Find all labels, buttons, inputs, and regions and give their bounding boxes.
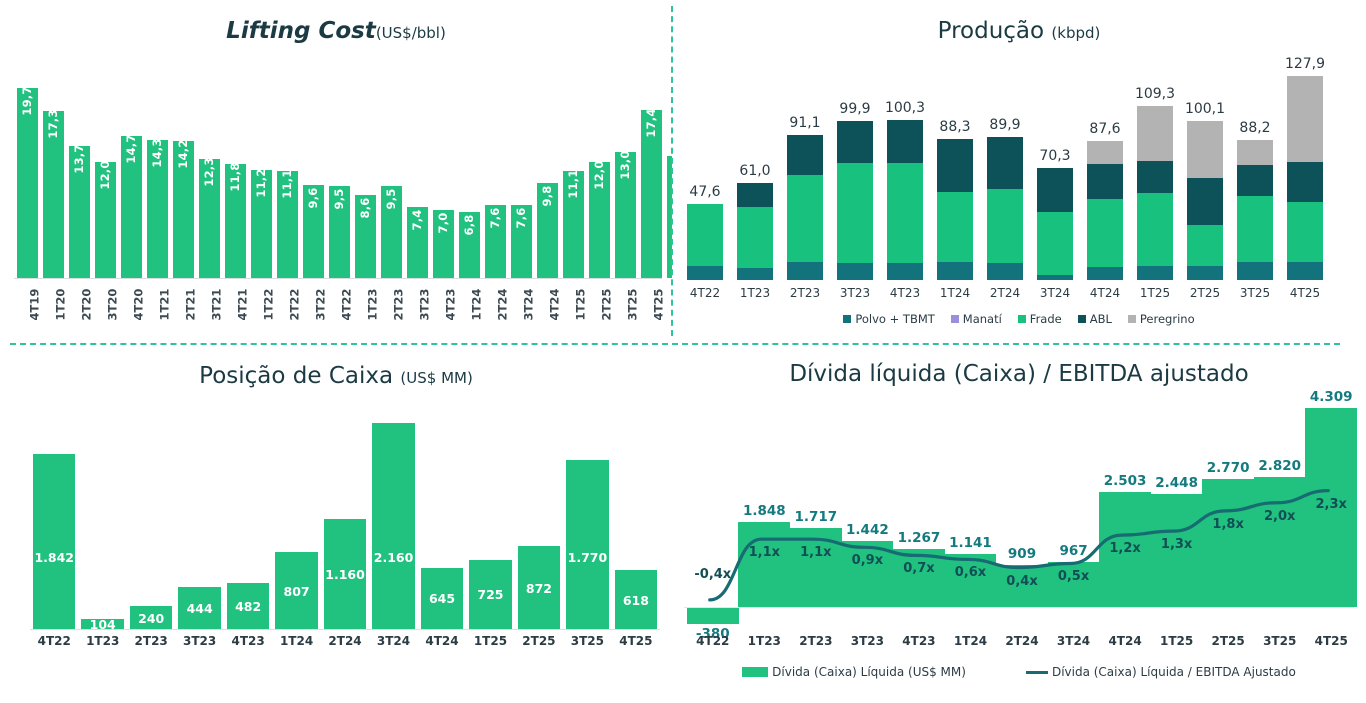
divida-x-label: 1T24: [944, 634, 996, 648]
divida-x-label: 4T23: [893, 634, 945, 648]
lifting-cost-bar: 13,7: [69, 146, 90, 278]
caixa-axis: [30, 629, 660, 630]
caixa-x-label: 3T24: [372, 634, 414, 648]
lifting-cost-bar-value: 12,3: [202, 158, 216, 187]
lifting-cost-bar-column: 7,62T24: [485, 80, 506, 278]
divida-legend: Dívida (Caixa) Líquida (US$ MM)Dívida (C…: [672, 665, 1366, 679]
caixa-bar-value: 645: [429, 591, 455, 606]
lifting-cost-bar-value: 9,5: [384, 189, 398, 210]
divida-x-label: 4T22: [687, 634, 739, 648]
divida-bar-column: 1.1410,6x1T24: [944, 395, 996, 630]
lifting-cost-bar: 9,5: [381, 186, 402, 278]
producao-segment-abl: [987, 137, 1023, 189]
lifting-cost-bar: 8,6: [355, 195, 376, 278]
producao-stacked-bar: [887, 120, 923, 280]
producao-x-label: 2T25: [1187, 286, 1223, 300]
divida-bar: [841, 541, 893, 607]
producao-total-label: 87,6: [1089, 121, 1120, 137]
divida-x-label: 2T25: [1202, 634, 1254, 648]
divida-ratio-value: 1,2x: [1109, 541, 1140, 556]
caixa-bar: 1.842: [33, 454, 75, 629]
caixa-bar-value: 240: [138, 611, 164, 626]
lifting-cost-x-label: 3T21: [209, 300, 223, 321]
caixa-bar-value: 444: [187, 601, 213, 616]
producao-segment-polvo-tbmt: [1137, 266, 1173, 280]
legend-line-icon: [1026, 671, 1048, 674]
lifting-cost-bar-column: 7,63T24: [511, 80, 532, 278]
divida-ratio-value: 1,1x: [800, 545, 831, 560]
caixa-bar: 444: [178, 587, 220, 629]
legend-item[interactable]: Polvo + TBMT: [843, 312, 934, 326]
divida-x-label: 3T25: [1254, 634, 1306, 648]
caixa-bar-column: 4443T23: [178, 410, 220, 629]
producao-x-label: 3T25: [1237, 286, 1273, 300]
producao-segment-peregrino: [1187, 121, 1223, 178]
caixa-bar-value: 1.160: [325, 567, 365, 582]
producao-segment-frade: [837, 163, 873, 263]
producao-segment-frade: [887, 163, 923, 263]
divida-bar-value: 4.309: [1310, 389, 1353, 405]
lifting-cost-bar: 11,2: [251, 170, 272, 278]
caixa-bar-column: 1.7703T25: [566, 410, 608, 629]
lifting-cost-x-label: 4T21: [235, 300, 249, 321]
lifting-cost-bar-column: 9,52T23: [381, 80, 402, 278]
producao-bar-column: 87,64T24: [1087, 65, 1123, 280]
lifting-cost-bar: 11,1: [563, 171, 584, 278]
divida-ratio-value: 1,1x: [749, 545, 780, 560]
lifting-cost-bar-column: 12,03T20: [95, 80, 116, 278]
producao-segment-abl: [737, 183, 773, 207]
lifting-cost-bar-column: 13,03T25: [615, 80, 636, 278]
divida-ratio-value: 0,5x: [1058, 569, 1089, 584]
divida-ratio-value: 0,4x: [1006, 574, 1037, 589]
divida-ratio-value: 0,7x: [903, 561, 934, 576]
lifting-cost-bar: 12,0: [95, 162, 116, 278]
caixa-bar: 807: [275, 552, 317, 629]
producao-segment-abl: [1137, 161, 1173, 193]
lifting-cost-bar-column: 11,12T22: [277, 80, 298, 278]
caixa-bar-column: 1.1602T24: [324, 410, 366, 629]
producao-segment-polvo-tbmt: [987, 263, 1023, 280]
producao-segment-frade: [937, 192, 973, 262]
divida-bar-value: 2.503: [1104, 473, 1147, 489]
divida-bar-column: 1.8481,1x1T23: [738, 395, 790, 630]
lifting-cost-bar-column: 17,44T25: [641, 80, 662, 278]
producao-segment-polvo-tbmt: [887, 263, 923, 280]
producao-bar-column: 47,64T22: [687, 65, 723, 280]
lifting-cost-bar-value: 9,8: [540, 186, 554, 207]
divida-x-label: 4T25: [1305, 634, 1357, 648]
caixa-bar-value: 1.842: [34, 550, 74, 565]
producao-segment-frade: [987, 189, 1023, 263]
lifting-cost-x-label: 3T25: [625, 300, 639, 321]
caixa-bar: 104: [81, 619, 123, 629]
lifting-cost-x-label: 3T22: [313, 300, 327, 321]
divida-bar-column: 1.4420,9x3T23: [841, 395, 893, 630]
producao-x-label: 3T24: [1037, 286, 1073, 300]
divida-ratio-value: 1,3x: [1161, 537, 1192, 552]
divida-bar: [944, 554, 996, 607]
producao-x-label: 4T24: [1087, 286, 1123, 300]
divida-ratio-value: -0,4x: [694, 567, 731, 582]
caixa-bar-value: 1.770: [568, 550, 608, 565]
producao-title-sub: (kbpd): [1051, 24, 1100, 42]
lifting-cost-x-label: 3T20: [105, 300, 119, 321]
lifting-cost-bar-column: 12,02T25: [589, 80, 610, 278]
caixa-bar-value: 482: [235, 599, 261, 614]
divida-bar-column: 2.7701,8x2T25: [1202, 395, 1254, 630]
producao-stacked-bar: [687, 204, 723, 280]
lifting-cost-bar-column: 17,31T20: [43, 80, 64, 278]
lifting-cost-bar-value: 17,3: [46, 109, 60, 138]
lifting-cost-bar-column: 14,74T20: [121, 80, 142, 278]
producao-stacked-bar: [1237, 140, 1273, 280]
producao-segment-polvo-tbmt: [1237, 262, 1273, 280]
producao-segment-frade: [1187, 225, 1223, 266]
divida-bar-column: 9670,5x3T24: [1048, 395, 1100, 630]
divida-bar-value: 1.848: [743, 503, 786, 519]
producao-stacked-bar: [1137, 106, 1173, 280]
lifting-cost-x-label: 1T22: [261, 300, 275, 321]
lifting-cost-bar-column: 11,84T21: [225, 80, 246, 278]
producao-bar-column: 109,31T25: [1137, 65, 1173, 280]
lifting-cost-bar-column: 8,61T23: [355, 80, 376, 278]
producao-segment-frade: [1087, 199, 1123, 267]
producao-segment-polvo-tbmt: [787, 262, 823, 280]
lifting-cost-bar-value: 13,0: [618, 151, 632, 180]
producao-segment-frade: [687, 204, 723, 266]
producao-total-label: 109,3: [1135, 86, 1175, 102]
legend-item[interactable]: Peregrino: [1128, 312, 1195, 326]
divida-bar-column: 1.2670,7x4T23: [893, 395, 945, 630]
lifting-cost-bar-column: 9,54T22: [329, 80, 350, 278]
divider-vertical: [671, 6, 673, 336]
producao-segment-polvo-tbmt: [687, 266, 723, 280]
caixa-bar-value: 725: [477, 587, 503, 602]
caixa-x-label: 4T25: [615, 634, 657, 648]
legend-swatch-icon: [951, 315, 959, 323]
caixa-x-label: 1T24: [275, 634, 317, 648]
lifting-cost-title-sub: (US$/bbl): [376, 24, 446, 42]
caixa-bar-column: 8071T24: [275, 410, 317, 629]
lifting-cost-bar-value: 9,6: [306, 188, 320, 209]
divida-x-label: 3T24: [1048, 634, 1100, 648]
producao-total-label: 91,1: [789, 115, 820, 131]
divida-x-label: 4T24: [1099, 634, 1151, 648]
producao-plot: 47,64T2261,01T2391,12T2399,93T23100,34T2…: [680, 65, 1330, 280]
caixa-title-sub: (US$ MM): [400, 369, 472, 387]
lifting-cost-bar-column: 9,63T22: [303, 80, 324, 278]
lifting-cost-x-label: 1T23: [365, 300, 379, 321]
lifting-cost-x-label: 2T21: [183, 300, 197, 321]
lifting-cost-x-label: 4T19: [27, 300, 41, 321]
producao-segment-frade: [737, 207, 773, 268]
lifting-cost-bar-value: 12,0: [592, 161, 606, 190]
lifting-cost-bar-value: 17,4: [644, 108, 658, 137]
divida-x-label: 3T23: [841, 634, 893, 648]
caixa-x-label: 4T24: [421, 634, 463, 648]
producao-segment-abl: [937, 139, 973, 191]
producao-bar-column: 100,34T23: [887, 65, 923, 280]
lifting-cost-x-label: 3T23: [417, 300, 431, 321]
lifting-cost-bar-column: 14,31T21: [147, 80, 168, 278]
producao-segment-peregrino: [1137, 106, 1173, 161]
caixa-x-label: 2T25: [518, 634, 560, 648]
producao-stacked-bar: [937, 139, 973, 280]
lifting-cost-bar-value: 11,1: [566, 169, 580, 198]
legend-item[interactable]: ABL: [1078, 312, 1112, 326]
caixa-x-label: 4T23: [227, 634, 269, 648]
lifting-cost-bar-column: 9,84T24: [537, 80, 558, 278]
producao-total-label: 88,2: [1239, 120, 1270, 136]
producao-bar-column: 89,92T24: [987, 65, 1023, 280]
divida-bar-column: 2.4481,3x1T25: [1151, 395, 1203, 630]
lifting-cost-x-label: 4T23: [443, 300, 457, 321]
caixa-bar-value: 807: [284, 584, 310, 599]
producao-bar-column: 88,31T24: [937, 65, 973, 280]
producao-x-label: 4T23: [887, 286, 923, 300]
lifting-cost-bar: 17,3: [43, 111, 64, 278]
divida-bar-column: 2.8202,0x3T25: [1254, 395, 1306, 630]
caixa-bar-column: 6454T24: [421, 410, 463, 629]
lifting-cost-x-label: 2T22: [287, 300, 301, 321]
lifting-cost-bar-value: 11,8: [228, 162, 242, 191]
lifting-cost-x-label: 4T25: [651, 300, 665, 321]
producao-segment-polvo-tbmt: [1287, 262, 1323, 280]
producao-stacked-bar: [1287, 76, 1323, 280]
caixa-bar-value: 872: [526, 581, 552, 596]
divida-title-main: Dívida líquida (Caixa) / EBITDA ajustado: [789, 361, 1248, 387]
producao-segment-frade: [1287, 202, 1323, 263]
lifting-cost-bar-column: 12,33T21: [199, 80, 220, 278]
producao-stacked-bar: [1087, 141, 1123, 280]
lifting-cost-bar-value: 7,4: [410, 209, 424, 230]
legend-label: ABL: [1090, 312, 1112, 326]
legend-swatch-icon: [742, 667, 768, 677]
producao-total-label: 89,9: [989, 117, 1020, 133]
producao-bar-column: 91,12T23: [787, 65, 823, 280]
divida-ratio-value: 0,6x: [955, 565, 986, 580]
lifting-cost-x-label: 2T20: [79, 300, 93, 321]
producao-segment-abl: [887, 120, 923, 163]
lifting-cost-x-label: 1T24: [469, 300, 483, 321]
caixa-bar: 1.770: [566, 460, 608, 629]
divida-bar: [893, 549, 945, 607]
lifting-cost-bar: 9,8: [537, 183, 558, 278]
divida-bar: [1254, 477, 1306, 607]
lifting-cost-bar-column: 19,74T19: [17, 80, 38, 278]
lifting-cost-bar: 7,0: [433, 210, 454, 278]
lifting-cost-bar: 14,2: [173, 141, 194, 278]
producao-segment-abl: [837, 121, 873, 163]
caixa-x-label: 4T22: [33, 634, 75, 648]
producao-segment-frade: [1037, 212, 1073, 276]
divida-bar-column: 1.7171,1x2T23: [790, 395, 842, 630]
producao-bar-column: 70,33T24: [1037, 65, 1073, 280]
lifting-cost-bar-column: 7,43T23: [407, 80, 428, 278]
caixa-bar: 725: [469, 560, 511, 629]
producao-segment-polvo-tbmt: [837, 263, 873, 280]
panel-lifting-cost: Lifting Cost(US$/bbl) 19,74T1917,31T2013…: [0, 0, 672, 345]
producao-total-label: 100,1: [1185, 101, 1225, 117]
lifting-cost-x-label: 4T24: [547, 300, 561, 321]
producao-segment-frade: [1137, 193, 1173, 265]
divida-bar: [738, 522, 790, 607]
producao-bar-column: 127,94T25: [1287, 65, 1323, 280]
lifting-cost-bar-value: 19,7: [20, 86, 34, 115]
producao-segment-polvo-tbmt: [937, 262, 973, 280]
divida-x-label: 1T23: [738, 634, 790, 648]
panel-producao: Produção (kbpd) 47,64T2261,01T2391,12T23…: [672, 0, 1366, 345]
legend-label: Manatí: [963, 312, 1002, 326]
lifting-cost-bar-value: 7,6: [514, 207, 528, 228]
divida-ratio-value: 1,8x: [1212, 517, 1243, 532]
lifting-cost-bar-value: 9,5: [332, 189, 346, 210]
caixa-plot: 1.8424T221041T232402T234443T234824T23807…: [30, 410, 660, 629]
lifting-cost-bar-value: 12,0: [98, 161, 112, 190]
producao-segment-abl: [1187, 178, 1223, 225]
producao-segment-abl: [787, 135, 823, 175]
caixa-bar: 240: [130, 606, 172, 629]
producao-bar-column: 99,93T23: [837, 65, 873, 280]
lifting-cost-bar: 13,0: [615, 152, 636, 278]
lifting-cost-bar-value: 6,8: [462, 215, 476, 236]
legend-label: Dívida (Caixa) Líquida / EBITDA Ajustado: [1052, 665, 1296, 679]
lifting-cost-bar-column: 13,72T20: [69, 80, 90, 278]
lifting-cost-bar-value: 7,6: [488, 207, 502, 228]
producao-legend: Polvo + TBMTManatíFradeABLPeregrino: [672, 312, 1366, 326]
divida-ratio-value: 0,9x: [852, 553, 883, 568]
legend-item[interactable]: Dívida (Caixa) Líquida (US$ MM): [742, 665, 966, 679]
panel-posicao-caixa: Posição de Caixa (US$ MM) 1.8424T221041T…: [0, 345, 672, 703]
lifting-cost-bar: 6,8: [459, 212, 480, 278]
producao-segment-polvo-tbmt: [1087, 267, 1123, 280]
lifting-cost-bar-value: 8,6: [358, 197, 372, 218]
lifting-cost-bar-value: 11,2: [254, 168, 268, 197]
legend-swatch-icon: [843, 315, 851, 323]
producao-stacked-bar: [837, 121, 873, 280]
legend-swatch-icon: [1128, 315, 1136, 323]
caixa-title-main: Posição de Caixa: [199, 363, 393, 389]
caixa-bar: 645: [421, 568, 463, 629]
legend-label: Frade: [1030, 312, 1062, 326]
lifting-cost-plot: 19,74T1917,31T2013,72T2012,03T2014,74T20…: [14, 80, 662, 278]
lifting-cost-bar: 19,7: [17, 88, 38, 278]
producao-total-label: 61,0: [739, 163, 770, 179]
caixa-bar: 2.160: [372, 423, 414, 629]
producao-segment-abl: [1237, 165, 1273, 195]
producao-segment-abl: [1087, 164, 1123, 198]
producao-segment-peregrino: [1087, 141, 1123, 165]
producao-stacked-bar: [987, 137, 1023, 280]
lifting-cost-bar-value: 11,1: [280, 169, 294, 198]
producao-bar-column: 100,12T25: [1187, 65, 1223, 280]
legend-item[interactable]: Manatí: [951, 312, 1002, 326]
legend-item[interactable]: Frade: [1018, 312, 1062, 326]
divida-bar: [1202, 479, 1254, 607]
legend-label: Dívida (Caixa) Líquida (US$ MM): [772, 665, 966, 679]
producao-bar-column: 61,01T23: [737, 65, 773, 280]
producao-total-label: 88,3: [939, 119, 970, 135]
lifting-cost-bar-value: 14,2: [176, 139, 190, 168]
divida-plot: -380-0,4x4T221.8481,1x1T231.7171,1x2T231…: [684, 395, 1354, 630]
lifting-cost-x-label: 1T21: [157, 300, 171, 321]
caixa-bar-column: 1041T23: [81, 410, 123, 629]
lifting-cost-bar-column: 14,22T21: [173, 80, 194, 278]
lifting-cost-bar: 9,6: [303, 185, 324, 278]
caixa-x-label: 2T24: [324, 634, 366, 648]
producao-bar-column: 88,23T25: [1237, 65, 1273, 280]
lifting-cost-bar: 12,3: [199, 159, 220, 278]
producao-segment-polvo-tbmt: [1187, 266, 1223, 280]
lifting-cost-bar: 11,8: [225, 164, 246, 278]
lifting-cost-bar-column: 11,11T25: [563, 80, 584, 278]
divida-ratio-value: 2,0x: [1264, 509, 1295, 524]
caixa-bar-column: 8722T25: [518, 410, 560, 629]
caixa-bar: 1.160: [324, 519, 366, 629]
producao-total-label: 127,9: [1285, 56, 1325, 72]
producao-total-label: 70,3: [1039, 148, 1070, 164]
lifting-cost-x-label: 1T25: [573, 300, 587, 321]
producao-x-label: 2T23: [787, 286, 823, 300]
divida-x-label: 2T24: [996, 634, 1048, 648]
producao-x-label: 1T23: [737, 286, 773, 300]
producao-x-label: 1T25: [1137, 286, 1173, 300]
legend-swatch-icon: [1018, 315, 1026, 323]
legend-label: Polvo + TBMT: [855, 312, 934, 326]
legend-item[interactable]: Dívida (Caixa) Líquida / EBITDA Ajustado: [1026, 665, 1296, 679]
caixa-title: Posição de Caixa (US$ MM): [0, 363, 672, 389]
divida-zero-axis: [684, 607, 1354, 608]
panel-divida-liquida: Dívida líquida (Caixa) / EBITDA ajustado…: [672, 345, 1366, 703]
lifting-cost-x-label: 1T20: [53, 300, 67, 321]
producao-x-label: 4T22: [687, 286, 723, 300]
lifting-cost-bar: 7,6: [511, 205, 532, 278]
lifting-cost-bar-column: 6,81T24: [459, 80, 480, 278]
divida-bar-value: 1.267: [898, 530, 941, 546]
divida-bar-column: 2.5031,2x4T24: [1099, 395, 1151, 630]
caixa-bar-column: 2.1603T24: [372, 410, 414, 629]
lifting-cost-bar-value: 13,7: [72, 144, 86, 173]
lifting-cost-x-label: 4T20: [131, 300, 145, 321]
divida-bar: [790, 528, 842, 607]
lifting-cost-bar: 14,7: [121, 136, 142, 278]
lifting-cost-title: Lifting Cost(US$/bbl): [0, 18, 672, 44]
producao-segment-abl: [1037, 168, 1073, 211]
lifting-cost-bar: 17,4: [641, 110, 662, 278]
caixa-bar: 618: [615, 570, 657, 629]
producao-x-label: 2T24: [987, 286, 1023, 300]
caixa-bar-column: 1.8424T22: [33, 410, 75, 629]
producao-stacked-bar: [1037, 168, 1073, 280]
lifting-cost-axis: [14, 278, 662, 279]
lifting-cost-bar: 7,4: [407, 207, 428, 278]
caixa-bar-column: 2402T23: [130, 410, 172, 629]
producao-segment-peregrino: [1237, 140, 1273, 166]
lifting-cost-bar: 12,0: [589, 162, 610, 278]
legend-label: Peregrino: [1140, 312, 1195, 326]
caixa-bar-column: 7251T25: [469, 410, 511, 629]
divida-x-label: 2T23: [790, 634, 842, 648]
divida-bar-value: 2.770: [1207, 460, 1250, 476]
divider-horizontal: [10, 343, 1340, 345]
lifting-cost-bar-value: 14,3: [150, 138, 164, 167]
divida-bar-column: 9090,4x2T24: [996, 395, 1048, 630]
producao-x-label: 1T24: [937, 286, 973, 300]
legend-swatch-icon: [1078, 315, 1086, 323]
producao-x-label: 3T23: [837, 286, 873, 300]
caixa-bar-value: 2.160: [374, 550, 414, 565]
